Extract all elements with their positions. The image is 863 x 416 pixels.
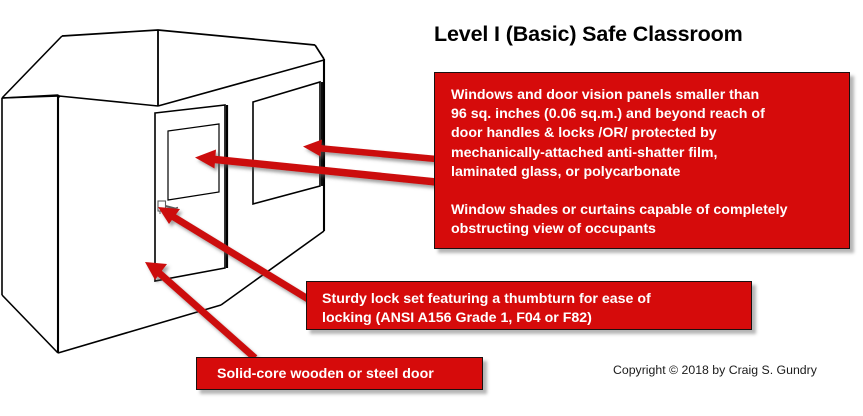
callout-windows-line-4: mechanically-attached anti-shatter film,	[451, 144, 835, 163]
callout-windows-line-1: Windows and door vision panels smaller t…	[451, 86, 835, 105]
callout-windows-line-6: Window shades or curtains capable of com…	[451, 201, 835, 220]
arrow-to-lock	[158, 207, 308, 299]
callout-windows-line-5: laminated glass, or polycarbonate	[451, 163, 835, 182]
callout-lock-line-1: Sturdy lock set featuring a thumbturn fo…	[322, 290, 739, 309]
page-title: Level I (Basic) Safe Classroom	[434, 22, 743, 47]
arrow-to-door	[145, 262, 255, 358]
callout-door-text: Solid-core wooden or steel door	[217, 364, 470, 384]
slide-canvas: Level I (Basic) Safe Classroom Windows a…	[0, 0, 863, 416]
window	[253, 82, 322, 204]
callout-sturdy-lock-set[interactable]: Sturdy lock set featuring a thumbturn fo…	[306, 281, 752, 330]
callout-windows-paragraph-gap	[451, 182, 835, 201]
copyright-notice: Copyright © 2018 by Craig S. Gundry	[613, 363, 817, 377]
callout-windows-and-vision-panels[interactable]: Windows and door vision panels smaller t…	[434, 72, 850, 249]
callout-solid-core-door[interactable]: Solid-core wooden or steel door	[196, 357, 483, 390]
room-outline	[2, 30, 324, 353]
callout-lock-line-2: locking (ANSI A156 Grade 1, F04 or F82)	[322, 309, 739, 328]
callout-windows-line-3: door handles & locks /OR/ protected by	[451, 124, 835, 143]
callout-windows-line-7: obstructing view of occupants	[451, 220, 835, 239]
callout-windows-line-2: 96 sq. inches (0.06 sq.m.) and beyond re…	[451, 105, 835, 124]
